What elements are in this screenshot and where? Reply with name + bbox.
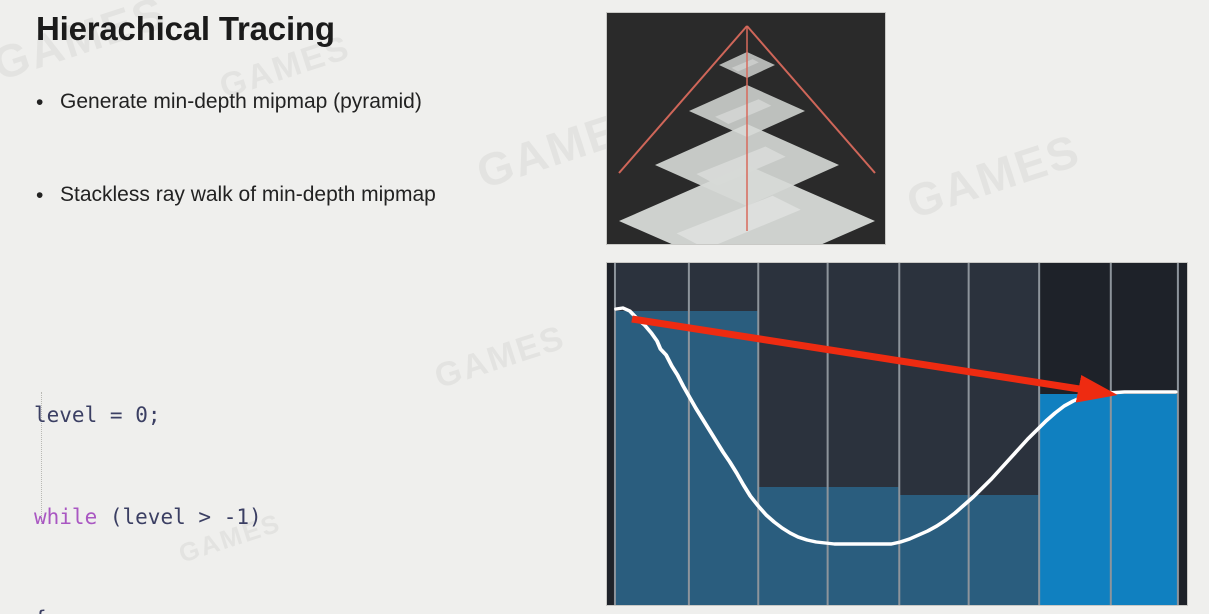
mipmap-pyramid-figure [606,12,886,245]
trace-mindepth-fill [828,487,900,605]
trace-mindepth-fill [758,487,827,605]
code-token: = [110,403,123,427]
trace-mindepth-fill [1039,394,1111,605]
bullet-item: • Generate min-depth mipmap (pyramid) [36,90,422,113]
code-token: -1 [224,505,249,529]
bullet-item: • Stackless ray walk of min-depth mipmap [36,183,436,206]
code-token [186,505,199,529]
code-line: { [34,602,426,614]
trace-mindepth-fill [1111,394,1178,605]
code-token [97,403,110,427]
code-token: ; [148,403,161,427]
code-token [123,403,136,427]
bullet-marker-icon: • [36,183,60,206]
code-block: level = 0; while (level > -1) { stepCurr… [34,296,426,614]
code-token: > [198,505,211,529]
pyramid-svg [607,13,885,244]
code-token: ) [249,505,262,529]
code-token: 0 [135,403,148,427]
watermark-text: GAMES [430,318,570,397]
mindepth-ray-walk-figure [606,262,1188,606]
trace-mindepth-fill [969,495,1040,605]
code-line: while (level > -1) [34,500,426,534]
code-token: level [34,403,97,427]
code-line: level = 0; [34,398,426,432]
bullet-item-label: Stackless ray walk of min-depth mipmap [60,183,436,206]
code-token: { [34,607,47,614]
watermark-text: GAMES [900,123,1087,230]
code-token: while [34,505,97,529]
trace-svg [607,263,1187,605]
bullet-marker-icon: • [36,90,60,113]
slide-canvas: GAMES GAMES GAMES GAMES GAMES GAMES Hier… [0,0,1209,614]
code-token: ( [97,505,122,529]
bullet-item-label: Generate min-depth mipmap (pyramid) [60,90,422,113]
trace-mindepth-fill [689,311,758,605]
code-token: level [123,505,186,529]
page-title: Hierachical Tracing [36,10,335,48]
trace-mindepth-fill [615,311,689,605]
code-token [211,505,224,529]
